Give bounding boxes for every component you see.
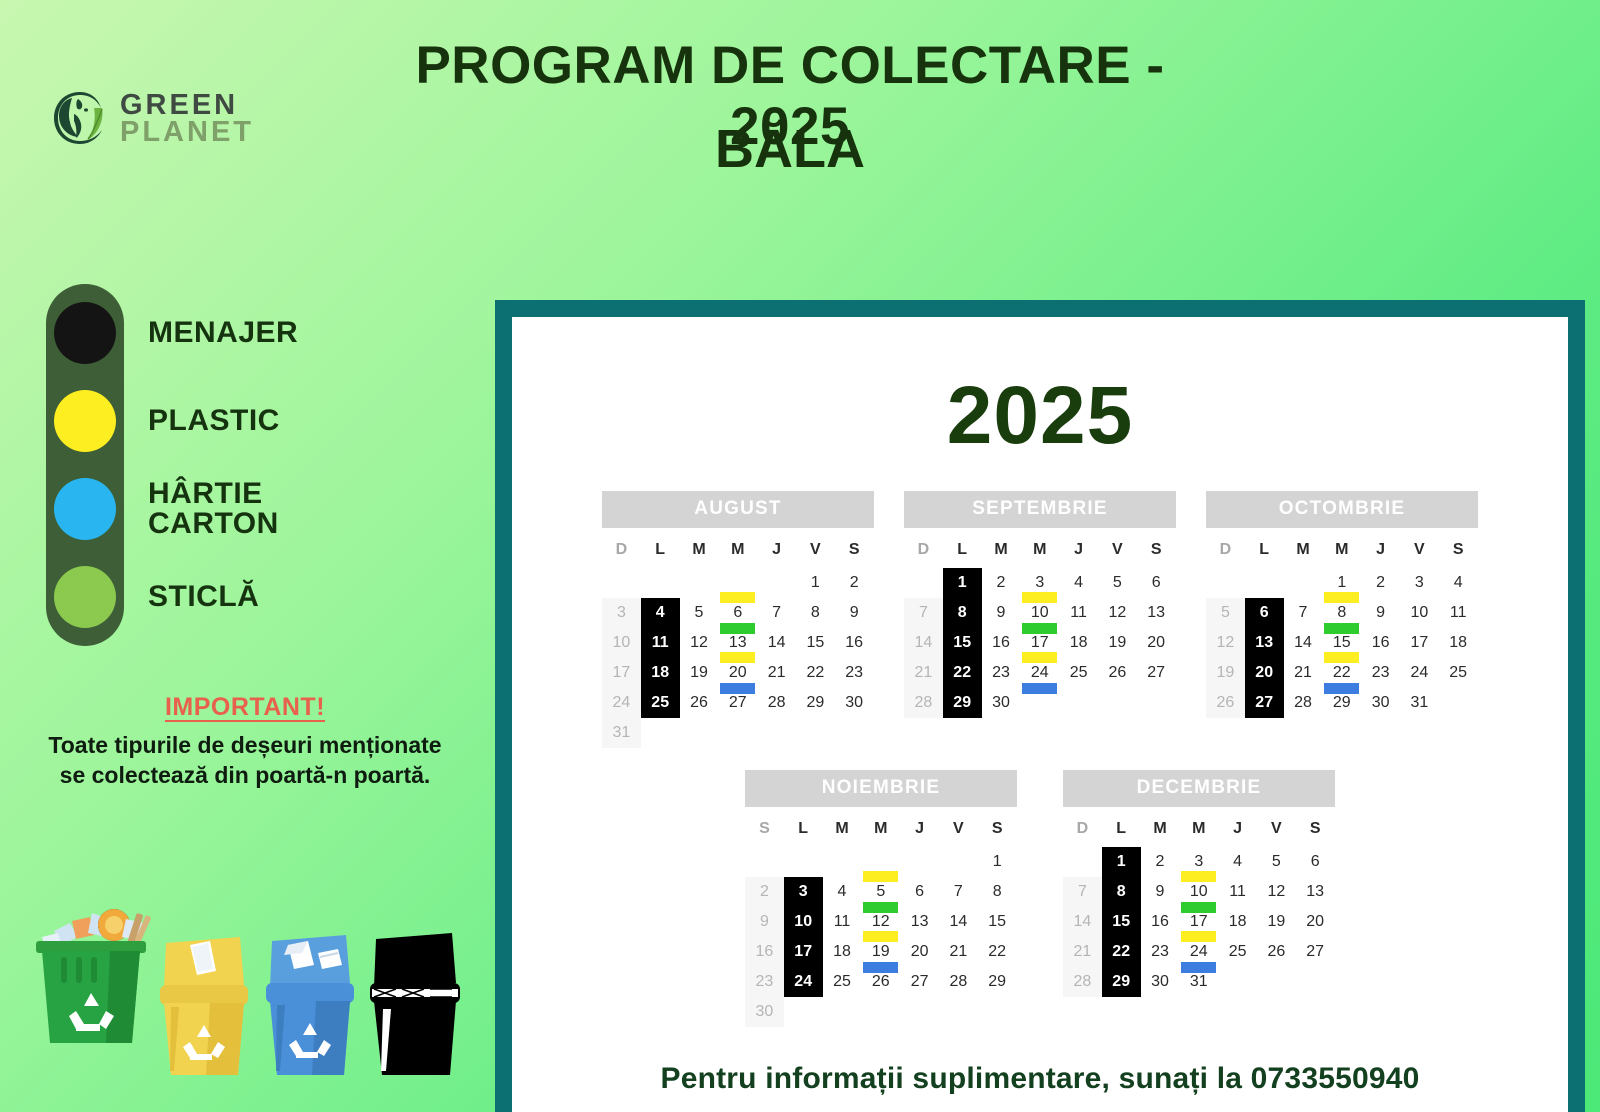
hartie-marker-bar	[863, 962, 898, 973]
day-cell-empty	[1257, 967, 1296, 997]
day-cell: 25	[1218, 937, 1257, 967]
day-of-week-row: DLMMJVS	[602, 528, 874, 568]
day-cell: 14	[1063, 907, 1102, 937]
dow-label: D	[904, 528, 943, 568]
day-cell-empty	[680, 718, 719, 748]
day-cell: 4	[1218, 847, 1257, 877]
day-cell: 18	[1218, 907, 1257, 937]
day-cell: 7	[904, 598, 943, 628]
day-cell-menajer: 17	[784, 937, 823, 967]
dow-label: J	[900, 807, 939, 847]
day-cell-menajer: 6	[1245, 598, 1284, 628]
day-cell: 31	[602, 718, 641, 748]
black-bin	[370, 933, 460, 1075]
day-cell: 13	[1296, 877, 1335, 907]
recycling-bins-illustration	[14, 893, 474, 1093]
day-cell-empty	[757, 568, 796, 598]
day-cell: 28	[1284, 688, 1323, 718]
dow-label: L	[1102, 807, 1141, 847]
day-cell: 26	[1098, 658, 1137, 688]
traffic-light-panel	[46, 284, 124, 646]
dow-label: L	[784, 807, 823, 847]
day-number: 19	[872, 943, 890, 960]
day-cell: 23	[835, 658, 874, 688]
day-cell-menajer: 27	[1245, 688, 1284, 718]
calendar-year-heading: 2025	[512, 317, 1568, 463]
day-cell: 14	[904, 628, 943, 658]
day-cell: 20	[1137, 628, 1176, 658]
day-cell: 24	[602, 688, 641, 718]
waste-type-legend: MENAJER PLASTIC HÂRTIE CARTON STICLĂ	[46, 284, 298, 646]
dow-label: S	[1137, 528, 1176, 568]
day-cell: 30	[745, 997, 784, 1027]
day-cell-empty	[1206, 568, 1245, 598]
day-cell-empty	[784, 997, 823, 1027]
week-row: 567891011	[1206, 598, 1478, 628]
day-cell-empty	[718, 718, 757, 748]
dow-label: M	[1322, 528, 1361, 568]
dow-label: S	[1439, 528, 1478, 568]
day-cell: 30	[982, 688, 1021, 718]
day-cell: 14	[757, 628, 796, 658]
day-cell: 17	[1400, 628, 1439, 658]
dow-label: D	[1206, 528, 1245, 568]
month-header: AUGUST	[602, 491, 874, 528]
legend-item-plastic: PLASTIC	[148, 390, 298, 452]
day-cell-menajer: 20	[1245, 658, 1284, 688]
day-cell: 16	[745, 937, 784, 967]
day-cell: 5	[1206, 598, 1245, 628]
day-cell: 12	[680, 628, 719, 658]
day-cell-menajer: 11	[641, 628, 680, 658]
month-august: AUGUSTDLMMJVS123456789101112131415161718…	[602, 491, 874, 748]
day-cell-menajer: 4	[641, 598, 680, 628]
day-cell: 12	[1098, 598, 1137, 628]
day-cell: 29	[978, 967, 1017, 997]
day-number: 22	[1333, 664, 1351, 681]
day-cell-plastic-sticla: 6	[718, 598, 757, 628]
day-cell: 23	[1141, 937, 1180, 967]
dow-label: L	[641, 528, 680, 568]
dow-label: S	[978, 807, 1017, 847]
day-cell: 31	[1400, 688, 1439, 718]
day-number: 10	[1031, 604, 1049, 621]
month-header: DECEMBRIE	[1063, 770, 1335, 807]
dow-label: S	[1296, 807, 1335, 847]
day-cell: 23	[982, 658, 1021, 688]
globe-leaf-icon	[50, 88, 110, 150]
day-cell: 6	[900, 877, 939, 907]
day-cell: 6	[1296, 847, 1335, 877]
dow-label: J	[757, 528, 796, 568]
day-cell-empty	[757, 718, 796, 748]
dow-label: V	[796, 528, 835, 568]
day-cell-empty	[1218, 967, 1257, 997]
day-cell-menajer: 8	[943, 598, 982, 628]
dow-label: M	[680, 528, 719, 568]
day-cell: 11	[1439, 598, 1478, 628]
day-cell: 1	[796, 568, 835, 598]
day-of-week-row: DLMMJVS	[904, 528, 1176, 568]
plastic-marker-bar	[1324, 652, 1359, 663]
day-number: 10	[1190, 883, 1208, 900]
day-cell: 28	[1063, 967, 1102, 997]
sticla-marker-bar	[1324, 623, 1359, 634]
dow-label: L	[1245, 528, 1284, 568]
day-cell: 1	[978, 847, 1017, 877]
day-number: 24	[1031, 664, 1049, 681]
day-cell-empty	[1245, 568, 1284, 598]
month-noiembrie: NOIEMBRIESLMMJVS123456789101112131415161…	[745, 770, 1017, 1027]
day-cell: 6	[1137, 568, 1176, 598]
day-cell: 9	[835, 598, 874, 628]
day-cell-empty	[861, 997, 900, 1027]
day-cell-menajer: 15	[1102, 907, 1141, 937]
day-cell: 25	[1439, 658, 1478, 688]
day-cell: 13	[900, 907, 939, 937]
day-cell-menajer: 13	[1245, 628, 1284, 658]
day-cell: 7	[757, 598, 796, 628]
month-header: OCTOMBRIE	[1206, 491, 1478, 528]
day-number: 20	[729, 664, 747, 681]
day-cell: 20	[1296, 907, 1335, 937]
yellow-dot-icon	[54, 390, 116, 452]
day-cell: 12	[1206, 628, 1245, 658]
important-title: IMPORTANT!	[10, 693, 480, 722]
plastic-marker-bar	[1022, 652, 1057, 663]
day-cell: 11	[823, 907, 862, 937]
week-row: 17181920212223	[602, 658, 874, 688]
day-cell: 27	[900, 967, 939, 997]
black-dot-icon	[54, 302, 116, 364]
dow-label: V	[1098, 528, 1137, 568]
calendar-row-bottom: NOIEMBRIESLMMJVS123456789101112131415161…	[512, 770, 1568, 1027]
day-cell: 19	[1257, 907, 1296, 937]
day-cell: 28	[939, 967, 978, 997]
day-cell-plastic-sticla: 5	[861, 877, 900, 907]
day-cell-menajer: 10	[784, 907, 823, 937]
day-cell-plastic-hartie: 20	[718, 658, 757, 688]
day-cell: 9	[1141, 877, 1180, 907]
day-cell-plastic-hartie: 24	[1020, 658, 1059, 688]
hartie-marker-bar	[1181, 962, 1216, 973]
month-octombrie: OCTOMBRIEDLMMJVS123456789101112131415161…	[1206, 491, 1478, 748]
day-cell: 2	[1141, 847, 1180, 877]
day-cell: 10	[1400, 598, 1439, 628]
brand-name-line1: GREEN	[120, 92, 254, 119]
week-row: 30	[745, 997, 1017, 1027]
day-cell-empty	[1284, 568, 1323, 598]
day-cell: 8	[796, 598, 835, 628]
day-cell: 27	[1137, 658, 1176, 688]
day-cell-menajer: 1	[943, 568, 982, 598]
day-cell-empty	[1137, 688, 1176, 718]
sticla-marker-bar	[863, 902, 898, 913]
day-cell-empty	[641, 568, 680, 598]
day-cell: 27	[1296, 937, 1335, 967]
day-cell: 11	[1059, 598, 1098, 628]
important-notice: IMPORTANT! Toate tipurile de deșeuri men…	[10, 693, 480, 791]
day-cell: 5	[1257, 847, 1296, 877]
day-cell: 5	[680, 598, 719, 628]
day-cell: 2	[1361, 568, 1400, 598]
day-cell-empty	[823, 997, 862, 1027]
dow-label: J	[1218, 807, 1257, 847]
week-row: 78910111213	[1063, 877, 1335, 907]
contact-note: Pentru informații suplimentare, sunați l…	[512, 1062, 1568, 1096]
dow-label: V	[1257, 807, 1296, 847]
dow-label: M	[982, 528, 1021, 568]
day-cell-empty	[1098, 688, 1137, 718]
important-line-2: se colectează din poartă-n poartă.	[10, 760, 480, 790]
day-cell-empty	[900, 847, 939, 877]
day-cell-menajer: 8	[1102, 877, 1141, 907]
day-cell-menajer: 24	[784, 967, 823, 997]
day-cell: 18	[1059, 628, 1098, 658]
day-cell-menajer: 3	[784, 877, 823, 907]
yellow-bin	[160, 937, 248, 1075]
day-cell-plastic-hartie: 19	[861, 937, 900, 967]
day-cell-menajer: 29	[943, 688, 982, 718]
day-cell-empty	[602, 568, 641, 598]
day-number: 5	[876, 883, 885, 900]
day-cell: 7	[1284, 598, 1323, 628]
dow-label: J	[1361, 528, 1400, 568]
day-cell: 2	[745, 877, 784, 907]
dow-label: M	[1020, 528, 1059, 568]
day-cell: 10	[602, 628, 641, 658]
week-row: 21222324252627	[1063, 937, 1335, 967]
legend-label-carton: CARTON	[148, 509, 279, 539]
blue-bin	[266, 935, 354, 1075]
important-line-1: Toate tipurile de deșeuri menționate	[10, 730, 480, 760]
calendar-row-top: AUGUSTDLMMJVS123456789101112131415161718…	[512, 491, 1568, 748]
day-cell: 7	[1063, 877, 1102, 907]
day-cell-empty	[784, 847, 823, 877]
day-cell-empty	[641, 718, 680, 748]
day-cell-empty	[939, 847, 978, 877]
day-cell: 21	[757, 658, 796, 688]
dow-label: M	[1141, 807, 1180, 847]
day-cell-plastic-sticla: 10	[1020, 598, 1059, 628]
day-cell-empty	[796, 718, 835, 748]
day-cell: 15	[978, 907, 1017, 937]
day-cell: 26	[680, 688, 719, 718]
dow-label: V	[1400, 528, 1439, 568]
day-cell-empty	[823, 847, 862, 877]
dow-label: D	[1063, 807, 1102, 847]
day-cell: 29	[796, 688, 835, 718]
day-cell: 25	[1059, 658, 1098, 688]
day-cell: 20	[900, 937, 939, 967]
plastic-marker-bar	[720, 592, 755, 603]
day-cell: 2	[982, 568, 1021, 598]
dow-label: M	[1284, 528, 1323, 568]
green-bin	[36, 909, 151, 1043]
day-number: 24	[1190, 943, 1208, 960]
plastic-marker-bar	[1324, 592, 1359, 603]
day-cell: 16	[835, 628, 874, 658]
month-header: SEPTEMBRIE	[904, 491, 1176, 528]
day-cell-menajer: 22	[943, 658, 982, 688]
sticla-marker-bar	[1181, 902, 1216, 913]
day-cell: 19	[1206, 658, 1245, 688]
dow-label: M	[1179, 807, 1218, 847]
day-cell: 3	[602, 598, 641, 628]
day-cell-menajer: 25	[641, 688, 680, 718]
day-cell: 18	[823, 937, 862, 967]
legend-item-menajer: MENAJER	[148, 302, 298, 364]
dow-label: M	[823, 807, 862, 847]
day-cell-empty	[1439, 688, 1478, 718]
week-row: 78910111213	[904, 598, 1176, 628]
day-cell: 13	[1137, 598, 1176, 628]
brand-logo: GREEN PLANET	[50, 88, 254, 150]
hartie-marker-bar	[1022, 683, 1057, 694]
day-cell: 9	[982, 598, 1021, 628]
day-cell: 9	[1361, 598, 1400, 628]
day-cell: 21	[939, 937, 978, 967]
plastic-marker-bar	[1022, 592, 1057, 603]
day-cell: 24	[1400, 658, 1439, 688]
legend-label-sticla: STICLĂ	[148, 582, 259, 612]
day-cell: 26	[1257, 937, 1296, 967]
day-cell-plastic-sticla: 8	[1322, 598, 1361, 628]
day-cell: 4	[1059, 568, 1098, 598]
day-number: 6	[733, 604, 742, 621]
day-cell-empty	[939, 997, 978, 1027]
day-cell: 16	[982, 628, 1021, 658]
day-cell: 14	[939, 907, 978, 937]
day-cell-empty	[1296, 967, 1335, 997]
day-cell: 8	[978, 877, 1017, 907]
day-cell: 18	[1439, 628, 1478, 658]
day-of-week-row: SLMMJVS	[745, 807, 1017, 847]
day-cell: 28	[904, 688, 943, 718]
dow-label: J	[1059, 528, 1098, 568]
day-cell: 14	[1284, 628, 1323, 658]
day-cell: 4	[1439, 568, 1478, 598]
day-cell: 28	[757, 688, 796, 718]
important-body: Toate tipurile de deșeuri menționate se …	[10, 730, 480, 791]
day-cell: 11	[1218, 877, 1257, 907]
day-number: 8	[1337, 604, 1346, 621]
hartie-marker-bar	[720, 683, 755, 694]
legend-item-hartie-carton: HÂRTIE CARTON	[148, 478, 298, 540]
plastic-marker-bar	[720, 652, 755, 663]
day-cell: 26	[1206, 688, 1245, 718]
day-cell-empty	[745, 847, 784, 877]
day-cell: 30	[1361, 688, 1400, 718]
sticla-marker-bar	[720, 623, 755, 634]
city-name: BĂLA	[360, 118, 1220, 180]
day-cell: 16	[1361, 628, 1400, 658]
month-header: NOIEMBRIE	[745, 770, 1017, 807]
day-cell: 23	[1361, 658, 1400, 688]
day-cell: 7	[939, 877, 978, 907]
week-row: 3456789	[602, 598, 874, 628]
calendar-panel: 2025 AUGUSTDLMMJVS1234567891011121314151…	[495, 300, 1585, 1112]
day-cell: 22	[978, 937, 1017, 967]
plastic-marker-bar	[863, 931, 898, 942]
week-row: 16171819202122	[745, 937, 1017, 967]
dow-label: V	[939, 807, 978, 847]
day-cell: 19	[1098, 628, 1137, 658]
day-cell: 21	[904, 658, 943, 688]
day-cell-empty	[978, 997, 1017, 1027]
legend-label-menajer: MENAJER	[148, 318, 298, 348]
day-cell-menajer: 29	[1102, 967, 1141, 997]
dow-label: M	[861, 807, 900, 847]
day-cell: 19	[680, 658, 719, 688]
day-cell-empty	[680, 568, 719, 598]
dow-label: D	[602, 528, 641, 568]
hartie-marker-bar	[1324, 683, 1359, 694]
day-cell: 21	[1063, 937, 1102, 967]
day-cell: 22	[796, 658, 835, 688]
week-row: 31	[602, 718, 874, 748]
day-cell: 2	[835, 568, 874, 598]
legend-label-plastic: PLASTIC	[148, 406, 280, 436]
day-cell-empty	[1059, 688, 1098, 718]
day-of-week-row: DLMMJVS	[1206, 528, 1478, 568]
blue-dot-icon	[54, 478, 116, 540]
plastic-marker-bar	[863, 871, 898, 882]
day-cell: 23	[745, 967, 784, 997]
day-cell: 25	[823, 967, 862, 997]
day-cell: 4	[823, 877, 862, 907]
day-cell: 5	[1098, 568, 1137, 598]
day-cell: 30	[835, 688, 874, 718]
plastic-marker-bar	[1181, 931, 1216, 942]
day-cell: 12	[1257, 877, 1296, 907]
day-of-week-row: DLMMJVS	[1063, 807, 1335, 847]
dow-label: M	[718, 528, 757, 568]
day-cell-empty	[835, 718, 874, 748]
week-row: 21222324252627	[904, 658, 1176, 688]
day-cell: 30	[1141, 967, 1180, 997]
day-cell-empty	[1063, 847, 1102, 877]
day-cell: 16	[1141, 907, 1180, 937]
month-septembrie: SEPTEMBRIEDLMMJVS12345678910111213141516…	[904, 491, 1176, 748]
day-cell-menajer: 1	[1102, 847, 1141, 877]
day-cell-menajer: 22	[1102, 937, 1141, 967]
day-cell: 3	[1400, 568, 1439, 598]
week-row: 2345678	[745, 877, 1017, 907]
dow-label: L	[943, 528, 982, 568]
sticla-marker-bar	[1022, 623, 1057, 634]
legend-item-sticla: STICLĂ	[148, 566, 298, 628]
day-cell-plastic-hartie: 24	[1179, 937, 1218, 967]
brand-name-line2: PLANET	[120, 119, 254, 146]
day-cell: 15	[796, 628, 835, 658]
calendar-panel-inner: 2025 AUGUSTDLMMJVS1234567891011121314151…	[512, 317, 1568, 1112]
plastic-marker-bar	[1181, 871, 1216, 882]
day-cell-plastic-sticla: 10	[1179, 877, 1218, 907]
green-dot-icon	[54, 566, 116, 628]
day-cell: 17	[602, 658, 641, 688]
day-cell-empty	[904, 568, 943, 598]
week-row: 19202122232425	[1206, 658, 1478, 688]
legend-label-list: MENAJER PLASTIC HÂRTIE CARTON STICLĂ	[148, 284, 298, 646]
day-cell-menajer: 15	[943, 628, 982, 658]
day-cell: 21	[1284, 658, 1323, 688]
day-cell-plastic-hartie: 22	[1322, 658, 1361, 688]
month-decembrie: DECEMBRIEDLMMJVS123456789101112131415161…	[1063, 770, 1335, 1027]
day-cell: 9	[745, 907, 784, 937]
day-cell-menajer: 18	[641, 658, 680, 688]
day-cell-empty	[900, 997, 939, 1027]
